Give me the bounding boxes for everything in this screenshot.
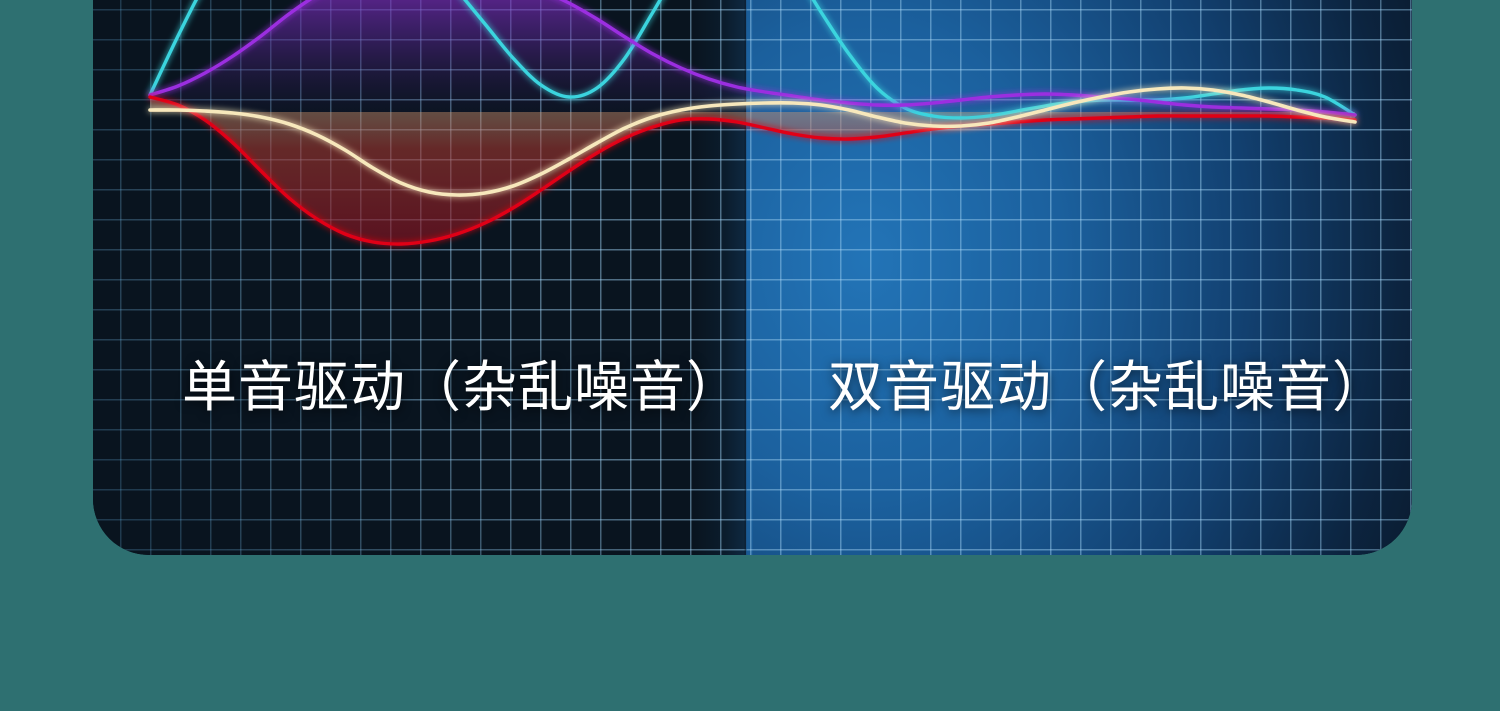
- caption-single-tone: 单音驱动（杂乱噪音）: [182, 360, 742, 415]
- caption-dual-tone: 双音驱动（杂乱噪音）: [828, 360, 1388, 415]
- waveform-fills: [150, 0, 1355, 244]
- waveform-plot: [93, 0, 1412, 555]
- red-wave-fill: [150, 97, 1355, 244]
- waveform-comparison-panel: 单音驱动（杂乱噪音） 双音驱动（杂乱噪音）: [93, 0, 1412, 555]
- screenshot-stage: 单音驱动（杂乱噪音） 双音驱动（杂乱噪音）: [0, 0, 1500, 711]
